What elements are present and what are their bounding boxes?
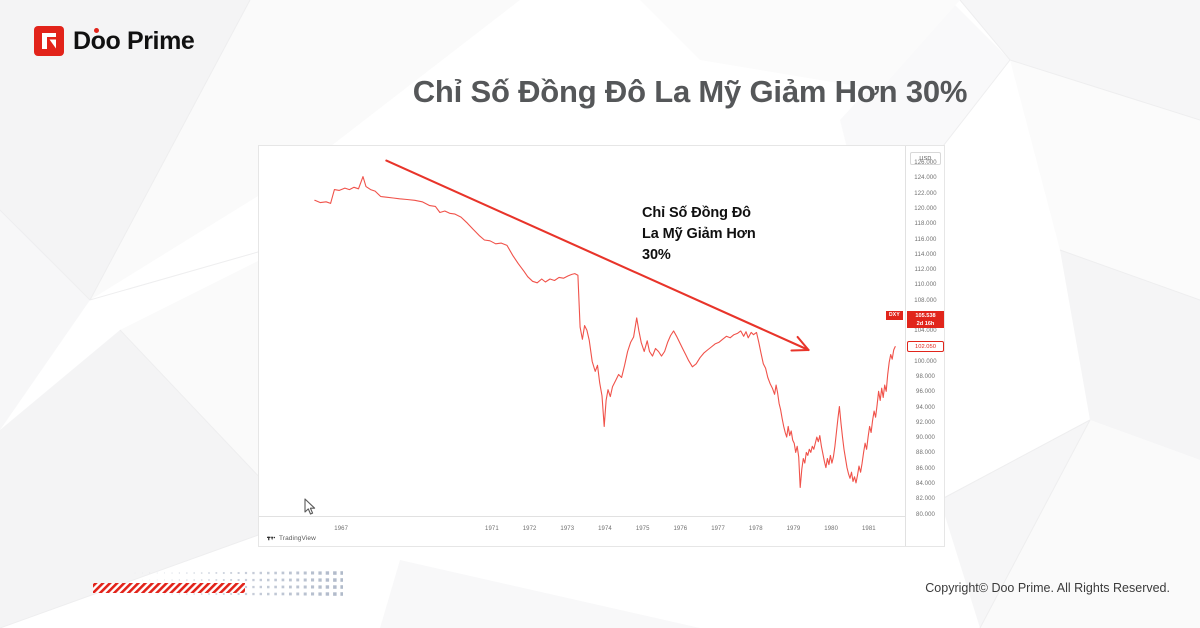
price-tick: 80.000: [906, 512, 945, 518]
price-tick: 86.000: [906, 466, 945, 472]
annotation-line-3: 30%: [642, 245, 756, 266]
price-tick: 98.000: [906, 374, 945, 380]
chart-plot-area[interactable]: Chỉ Số Đồng Đô La Mỹ Giảm Hơn 30% 196719…: [259, 146, 907, 547]
last-price-badge: 102.050: [907, 341, 944, 352]
price-tick: 94.000: [906, 405, 945, 411]
price-tick: 104.000: [906, 328, 945, 334]
time-tick: 1971: [485, 526, 499, 532]
chart-card: Chỉ Số Đồng Đô La Mỹ Giảm Hơn 30% 196719…: [258, 145, 945, 547]
time-tick: 1975: [636, 526, 650, 532]
footer-decoration: [93, 570, 343, 602]
annotation-line-2: La Mỹ Giảm Hơn: [642, 224, 756, 245]
price-tick: 108.000: [906, 298, 945, 304]
price-tick: 122.000: [906, 191, 945, 197]
dxy-line-chart: [259, 146, 907, 547]
time-tick: 1978: [749, 526, 763, 532]
time-tick: 1980: [824, 526, 838, 532]
time-tick: 1974: [598, 526, 612, 532]
brand-name: Doo Prime: [73, 27, 194, 56]
price-tick: 100.000: [906, 359, 945, 365]
time-tick: 1977: [711, 526, 725, 532]
price-tick: 112.000: [906, 267, 945, 273]
mouse-pointer-icon: [303, 498, 317, 521]
price-quote-badge: 105.538 2d 16h DXY: [907, 311, 944, 328]
tradingview-logo-icon: [267, 535, 276, 542]
price-quote-countdown: 2d 16h: [907, 320, 944, 328]
logo-accent-dot: [94, 28, 99, 33]
symbol-badge: DXY: [886, 311, 903, 320]
price-tick: 92.000: [906, 420, 945, 426]
price-tick: 126.000: [906, 160, 945, 166]
annotation-line-1: Chỉ Số Đồng Đô: [642, 203, 756, 224]
time-tick: 1981: [862, 526, 876, 532]
price-tick: 118.000: [906, 221, 945, 227]
brand-logo[interactable]: Doo Prime: [34, 26, 194, 56]
footer-copyright: Copyright© Doo Prime. All Rights Reserve…: [925, 581, 1170, 595]
tradingview-watermark: TradingView: [267, 535, 316, 542]
time-tick: 1976: [674, 526, 688, 532]
price-tick: 96.000: [906, 389, 945, 395]
price-tick: 82.000: [906, 496, 945, 502]
time-tick: 1973: [560, 526, 574, 532]
tradingview-label: TradingView: [279, 535, 316, 542]
price-tick: 110.000: [906, 282, 945, 288]
price-quote-value: 105.538: [907, 312, 944, 320]
time-tick: 1979: [787, 526, 801, 532]
price-tick: 120.000: [906, 206, 945, 212]
price-tick: 114.000: [906, 252, 945, 258]
price-scale[interactable]: USD 126.000124.000122.000120.000118.0001…: [905, 146, 944, 547]
price-tick: 116.000: [906, 237, 945, 243]
price-tick: 84.000: [906, 481, 945, 487]
price-tick: 90.000: [906, 435, 945, 441]
page-title: Chỉ Số Đồng Đô La Mỹ Giảm Hơn 30%: [0, 74, 1200, 110]
chart-annotation: Chỉ Số Đồng Đô La Mỹ Giảm Hơn 30%: [642, 203, 756, 266]
price-tick: 124.000: [906, 175, 945, 181]
time-axis-line: [259, 516, 907, 517]
price-tick: 88.000: [906, 450, 945, 456]
time-tick: 1967: [334, 526, 348, 532]
time-tick: 1972: [523, 526, 537, 532]
doo-prime-flag-icon: [34, 26, 64, 56]
